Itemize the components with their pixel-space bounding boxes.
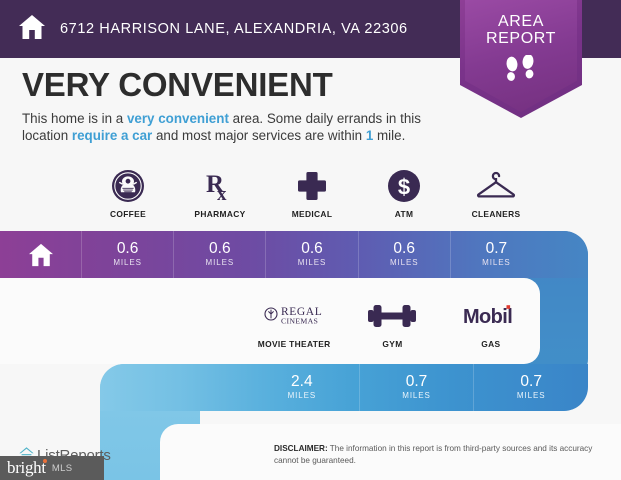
- distance-cell-atm: 0.6 MILES: [359, 231, 451, 278]
- amenity-icon-row-2: REGAL CINEMAS MOVIE THEATER GYM: [245, 296, 540, 358]
- rx-icon: R x: [204, 166, 236, 206]
- amenity-medical: MEDICAL: [266, 166, 358, 228]
- svg-text:CINEMAS: CINEMAS: [281, 317, 318, 326]
- distance-cell-cleaners: 0.7 MILES: [451, 231, 542, 278]
- distance-cell-medical: 0.6 MILES: [266, 231, 358, 278]
- badge-line-1: AREA: [498, 13, 544, 30]
- page-title: VERY CONVENIENT: [22, 66, 333, 104]
- disclaimer: DISCLAIMER: The information in this repo…: [274, 443, 596, 466]
- distance-value: 0.6: [301, 241, 323, 257]
- distance-cell-pharmacy: 0.6 MILES: [174, 231, 266, 278]
- intro-description: This home is in a very convenient area. …: [22, 110, 442, 144]
- distance-unit: MILES: [390, 257, 419, 268]
- amenity-movie-theater: REGAL CINEMAS MOVIE THEATER: [245, 296, 343, 358]
- amenity-label: COFFEE: [110, 209, 146, 219]
- amenity-gym: GYM: [343, 296, 441, 358]
- distance-cell-movie-theater: 2.4 MILES: [245, 364, 360, 411]
- distance-unit: MILES: [482, 257, 511, 268]
- bright-label: bright: [7, 458, 46, 478]
- amenity-icon-row-1: COFFEE R x PHARMACY MEDICAL: [82, 166, 542, 228]
- disclaimer-label: DISCLAIMER:: [274, 444, 328, 453]
- amenity-gas: Mobil GAS: [442, 296, 540, 358]
- intro-text-4: mile.: [373, 128, 405, 143]
- bright-dot-icon: [43, 459, 47, 463]
- amenity-label: GAS: [481, 339, 500, 349]
- amenity-label: CLEANERS: [472, 209, 521, 219]
- distance-cell-gym: 0.7 MILES: [360, 364, 475, 411]
- intro-highlight-2: require a car: [72, 128, 152, 143]
- dollar-circle-icon: $: [387, 166, 421, 206]
- distance-bar-row-1: 0.6 MILES 0.6 MILES 0.6 MILES 0.6 MILES …: [0, 231, 588, 278]
- svg-text:x: x: [217, 184, 227, 203]
- mls-label: MLS: [52, 463, 73, 474]
- amenity-cleaners: CLEANERS: [450, 166, 542, 228]
- distance-bar-row-2: 2.4 MILES 0.7 MILES 0.7 MILES: [100, 364, 588, 411]
- distance-value: 2.4: [291, 374, 313, 390]
- distance-value: 0.6: [393, 241, 415, 257]
- footprints-icon: [501, 55, 541, 90]
- bright-mls-logo: bright MLS: [0, 456, 104, 480]
- dumbbell-icon: [366, 296, 418, 336]
- medical-cross-icon: [296, 166, 328, 206]
- distance-cell-coffee: 0.6 MILES: [82, 231, 174, 278]
- amenity-atm: $ ATM: [358, 166, 450, 228]
- distance-unit: MILES: [113, 257, 142, 268]
- amenity-label: MEDICAL: [292, 209, 333, 219]
- distance-unit: MILES: [298, 257, 327, 268]
- distance-unit: MILES: [517, 390, 546, 401]
- amenity-label: MOVIE THEATER: [258, 339, 331, 349]
- amenity-label: GYM: [382, 339, 402, 349]
- intro-highlight-1: very convenient: [127, 111, 229, 126]
- home-icon: [18, 14, 46, 45]
- property-address: 6712 HARRISON LANE, ALEXANDRIA, VA 22306: [60, 21, 408, 37]
- distance-value: 0.6: [117, 241, 139, 257]
- distance-value: 0.7: [520, 374, 542, 390]
- svg-text:Mobil: Mobil: [463, 306, 512, 328]
- mobil-logo-icon: Mobil: [462, 296, 520, 336]
- badge-line-2: REPORT: [486, 30, 556, 48]
- amenity-coffee: COFFEE: [82, 166, 174, 228]
- starbucks-logo-icon: [111, 166, 145, 206]
- distance-value: 0.7: [406, 374, 428, 390]
- amenity-label: ATM: [395, 209, 414, 219]
- amenity-label: PHARMACY: [194, 209, 245, 219]
- intro-text-3: and most major services are within: [152, 128, 366, 143]
- amenity-pharmacy: R x PHARMACY: [174, 166, 266, 228]
- intro-text-1: This home is in a: [22, 111, 127, 126]
- svg-text:$: $: [398, 175, 410, 200]
- distance-cell-gas: 0.7 MILES: [474, 364, 588, 411]
- clothes-hanger-icon: [475, 166, 517, 206]
- area-report-page: 6712 HARRISON LANE, ALEXANDRIA, VA 22306…: [0, 0, 621, 480]
- distance-unit: MILES: [206, 257, 235, 268]
- distance-unit: MILES: [288, 390, 317, 401]
- distance-unit: MILES: [402, 390, 431, 401]
- distance-value: 0.6: [209, 241, 231, 257]
- distance-value: 0.7: [486, 241, 508, 257]
- regal-cinemas-logo-icon: REGAL CINEMAS: [262, 296, 326, 336]
- home-icon: [0, 231, 82, 278]
